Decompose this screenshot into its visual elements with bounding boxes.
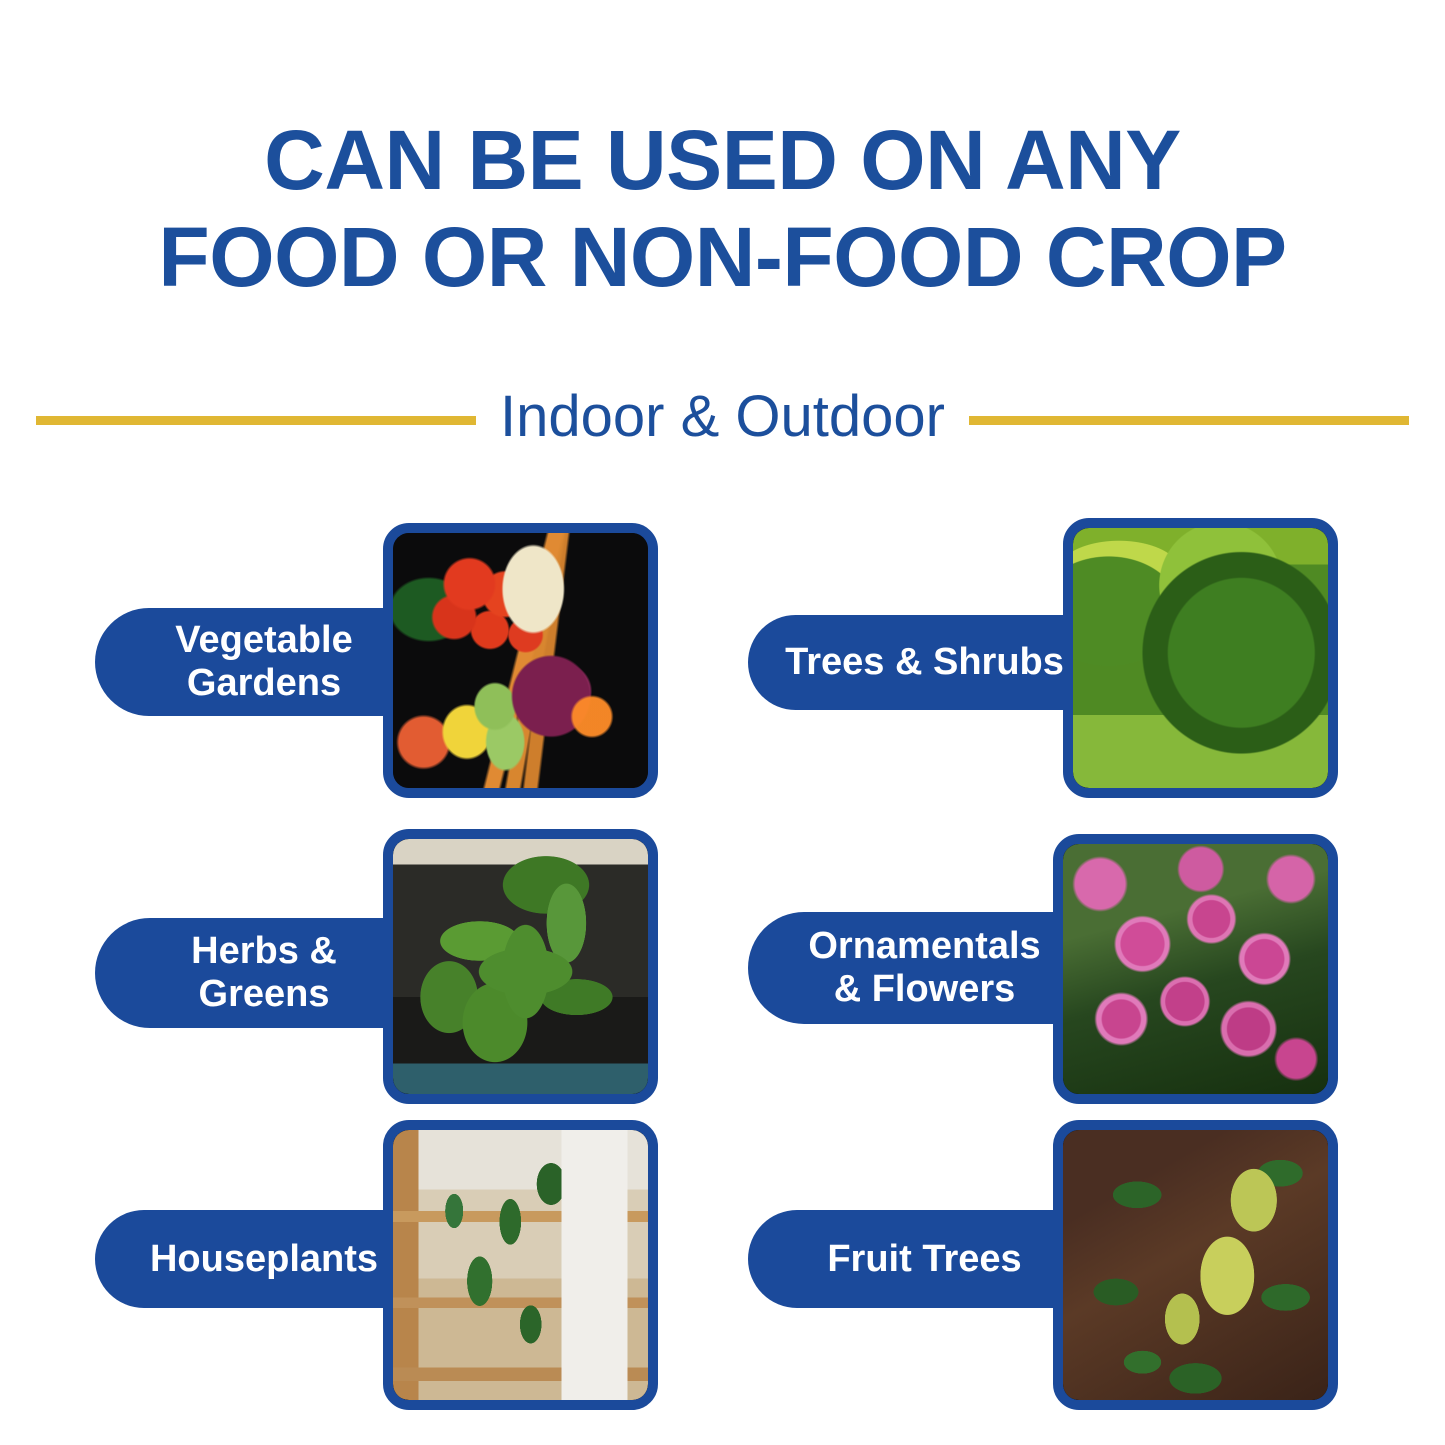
subtitle-row: Indoor & Outdoor (0, 382, 1445, 458)
category-image-frame-ornamentals-and-flowers (1053, 834, 1338, 1104)
category-pill-houseplants[interactable]: Houseplants (95, 1210, 425, 1308)
category-label-vegetable-gardens: Vegetable Gardens (175, 619, 352, 704)
category-pill-ornamentals-and-flowers[interactable]: Ornamentals & Flowers (748, 912, 1093, 1024)
category-label-herbs-and-greens: Herbs & Greens (191, 930, 337, 1015)
photo-houseplants-on-wooden-shelves (393, 1130, 648, 1400)
category-label-trees-and-shrubs: Trees & Shrubs (785, 641, 1064, 684)
photo-pears-on-tree (1063, 1130, 1328, 1400)
category-label-fruit-trees: Fruit Trees (827, 1238, 1021, 1281)
category-label-ornamentals-and-flowers: Ornamentals & Flowers (808, 925, 1040, 1010)
gold-divider-right (969, 416, 1409, 425)
category-image-frame-herbs-and-greens (383, 829, 658, 1104)
photo-trimmed-boxwood-shrub (1073, 528, 1328, 788)
category-pill-vegetable-gardens[interactable]: Vegetable Gardens (95, 608, 425, 716)
page-title-line-2: FOOD OR NON-FOOD CROP (0, 209, 1445, 306)
category-image-frame-trees-and-shrubs (1063, 518, 1338, 798)
category-pill-fruit-trees[interactable]: Fruit Trees (748, 1210, 1093, 1308)
category-grid: Vegetable Gardens Trees & Shrubs Herbs &… (0, 500, 1445, 1445)
gold-divider-left (36, 416, 476, 425)
category-pill-trees-and-shrubs[interactable]: Trees & Shrubs (748, 615, 1093, 710)
category-image-frame-fruit-trees (1053, 1120, 1338, 1410)
category-pill-herbs-and-greens[interactable]: Herbs & Greens (95, 918, 425, 1028)
photo-vegetables-on-dark-background (393, 533, 648, 788)
category-label-houseplants: Houseplants (150, 1238, 378, 1281)
page-title-line-1: CAN BE USED ON ANY (0, 112, 1445, 209)
category-image-frame-houseplants (383, 1120, 658, 1410)
category-image-frame-vegetable-gardens (383, 523, 658, 798)
photo-pink-chrysanthemums (1063, 844, 1328, 1094)
subtitle: Indoor & Outdoor (500, 388, 945, 452)
photo-leafy-greens-in-tray (393, 839, 648, 1094)
page-title: CAN BE USED ON ANY FOOD OR NON-FOOD CROP (0, 112, 1445, 307)
